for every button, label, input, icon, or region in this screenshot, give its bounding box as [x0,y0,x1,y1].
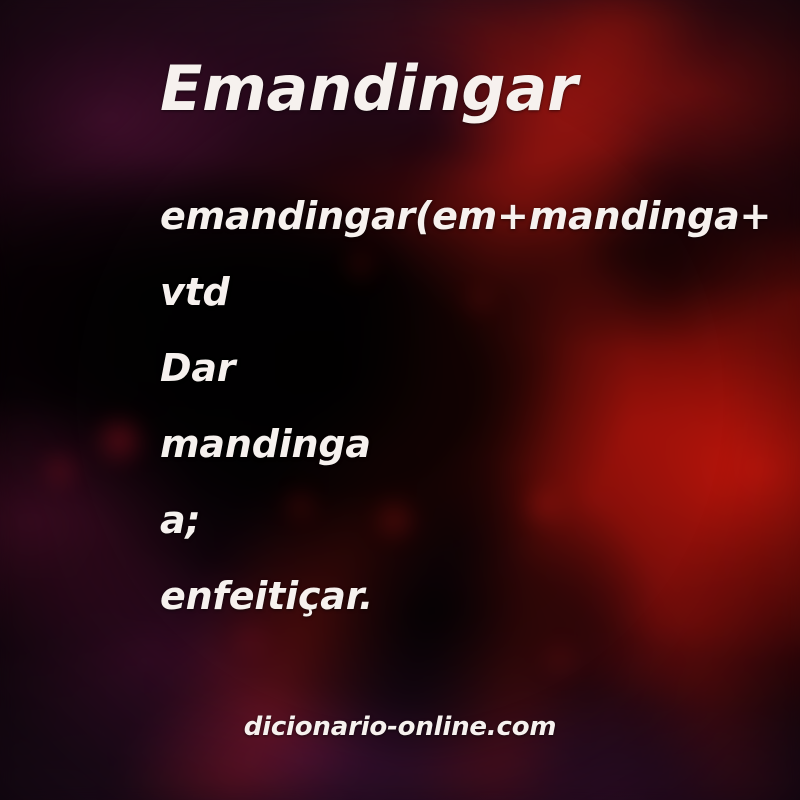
card-content: Emandingar emandingar(em+mandinga+ vtd D… [0,0,800,800]
definition-line: emandingar(em+mandinga+ [160,178,800,254]
definition-line: vtd [160,254,800,330]
definition-block: emandingar(em+mandinga+ vtd Dar mandinga… [160,178,800,634]
definition-line: enfeitiçar. [160,558,800,634]
source-watermark: dicionario-online.com [0,712,800,742]
page-title: Emandingar [160,56,578,121]
dictionary-word-card: Emandingar emandingar(em+mandinga+ vtd D… [0,0,800,800]
definition-line: mandinga [160,406,800,482]
definition-line: Dar [160,330,800,406]
definition-line: a; [160,482,800,558]
